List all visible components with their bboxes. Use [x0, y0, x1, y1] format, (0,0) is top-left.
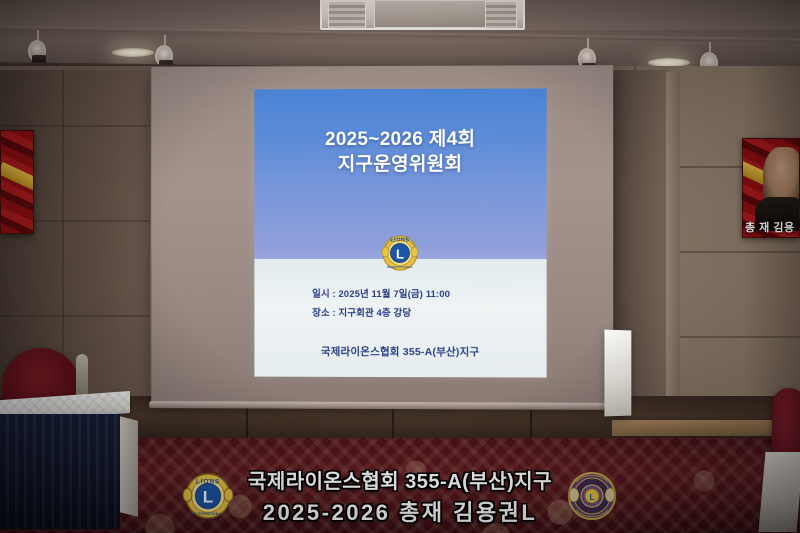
- banner-caption: 총 재 김용: [745, 219, 797, 235]
- wall-banner-left: [0, 130, 34, 234]
- svg-text:LIONS: LIONS: [390, 237, 409, 243]
- caption-line-district: 국제라이온스협회 355-A(부산)지구: [248, 465, 552, 494]
- lions-club-emblem-icon: L LIONS INTERNATIONAL: [378, 229, 422, 281]
- projection-screen: 2025~2026 제4회 지구운영위원회 L LIONS INTERNATIO…: [151, 65, 613, 405]
- caption-text-block: 국제라이온스협회 355-A(부산)지구 2025-2026 총재 김용권L: [248, 465, 552, 527]
- wall-banner-right: 총 재 김용: [742, 138, 800, 238]
- slide-title: 2025~2026 제4회 지구운영위원회: [254, 127, 546, 178]
- slide-emblem: L LIONS INTERNATIONAL: [378, 229, 422, 281]
- wall-panel-seam: [0, 125, 150, 127]
- conference-room-scene: 총 재 김용 2025~2026 제4회 지구운영위원회 L: [0, 0, 800, 533]
- spotlight-stem: [164, 35, 166, 45]
- wall-column-face: [666, 72, 680, 420]
- spotlight-stem: [587, 38, 589, 48]
- ceiling-downlight: [112, 48, 154, 57]
- svg-text:INTERNATIONAL: INTERNATIONAL: [192, 512, 223, 516]
- caption-overlay: L LIONS INTERNATIONAL 국제라이온스협회 355-A(부산)…: [0, 465, 800, 527]
- spotlight-icon: [28, 40, 46, 62]
- white-podium: [604, 330, 631, 417]
- svg-text:INTERNATIONAL: INTERNATIONAL: [387, 265, 413, 269]
- air-conditioning-vent: [320, 0, 525, 30]
- wall-panel-seam: [0, 315, 150, 317]
- svg-text:LIONS: LIONS: [196, 479, 220, 486]
- spotlight-stem: [709, 42, 711, 52]
- slide-info-location: 장소 : 지구회관 4층 강당: [312, 304, 512, 323]
- slide-footer-org: 국제라이온스협회 355-A(부산)지구: [254, 344, 546, 360]
- projected-slide: 2025~2026 제4회 지구운영위원회 L LIONS INTERNATIO…: [254, 88, 546, 377]
- track-spotlight: [155, 35, 175, 67]
- vent-grille: [374, 0, 492, 28]
- svg-text:L: L: [590, 493, 595, 502]
- slide-title-line2: 지구운영위원회: [254, 152, 546, 177]
- slide-info-datetime: 일시 : 2025년 11월 7일(금) 11:00: [312, 285, 512, 304]
- svg-text:L: L: [396, 246, 404, 261]
- track-spotlight: [28, 30, 48, 62]
- lions-club-emblem-icon: L LIONS INTERNATIONAL: [182, 470, 234, 522]
- district-seal-emblem-icon: L: [566, 470, 618, 522]
- slide-title-line1: 2025~2026 제4회: [325, 129, 475, 150]
- ceiling: [0, 0, 800, 76]
- spotlight-stem: [37, 30, 39, 40]
- banner-gold-stripe: [0, 162, 34, 191]
- caption-line-governor: 2025-2026 총재 김용권L: [263, 495, 538, 527]
- slide-info-block: 일시 : 2025년 11월 7일(금) 11:00 장소 : 지구회관 4층 …: [312, 285, 512, 323]
- svg-text:L: L: [203, 488, 213, 507]
